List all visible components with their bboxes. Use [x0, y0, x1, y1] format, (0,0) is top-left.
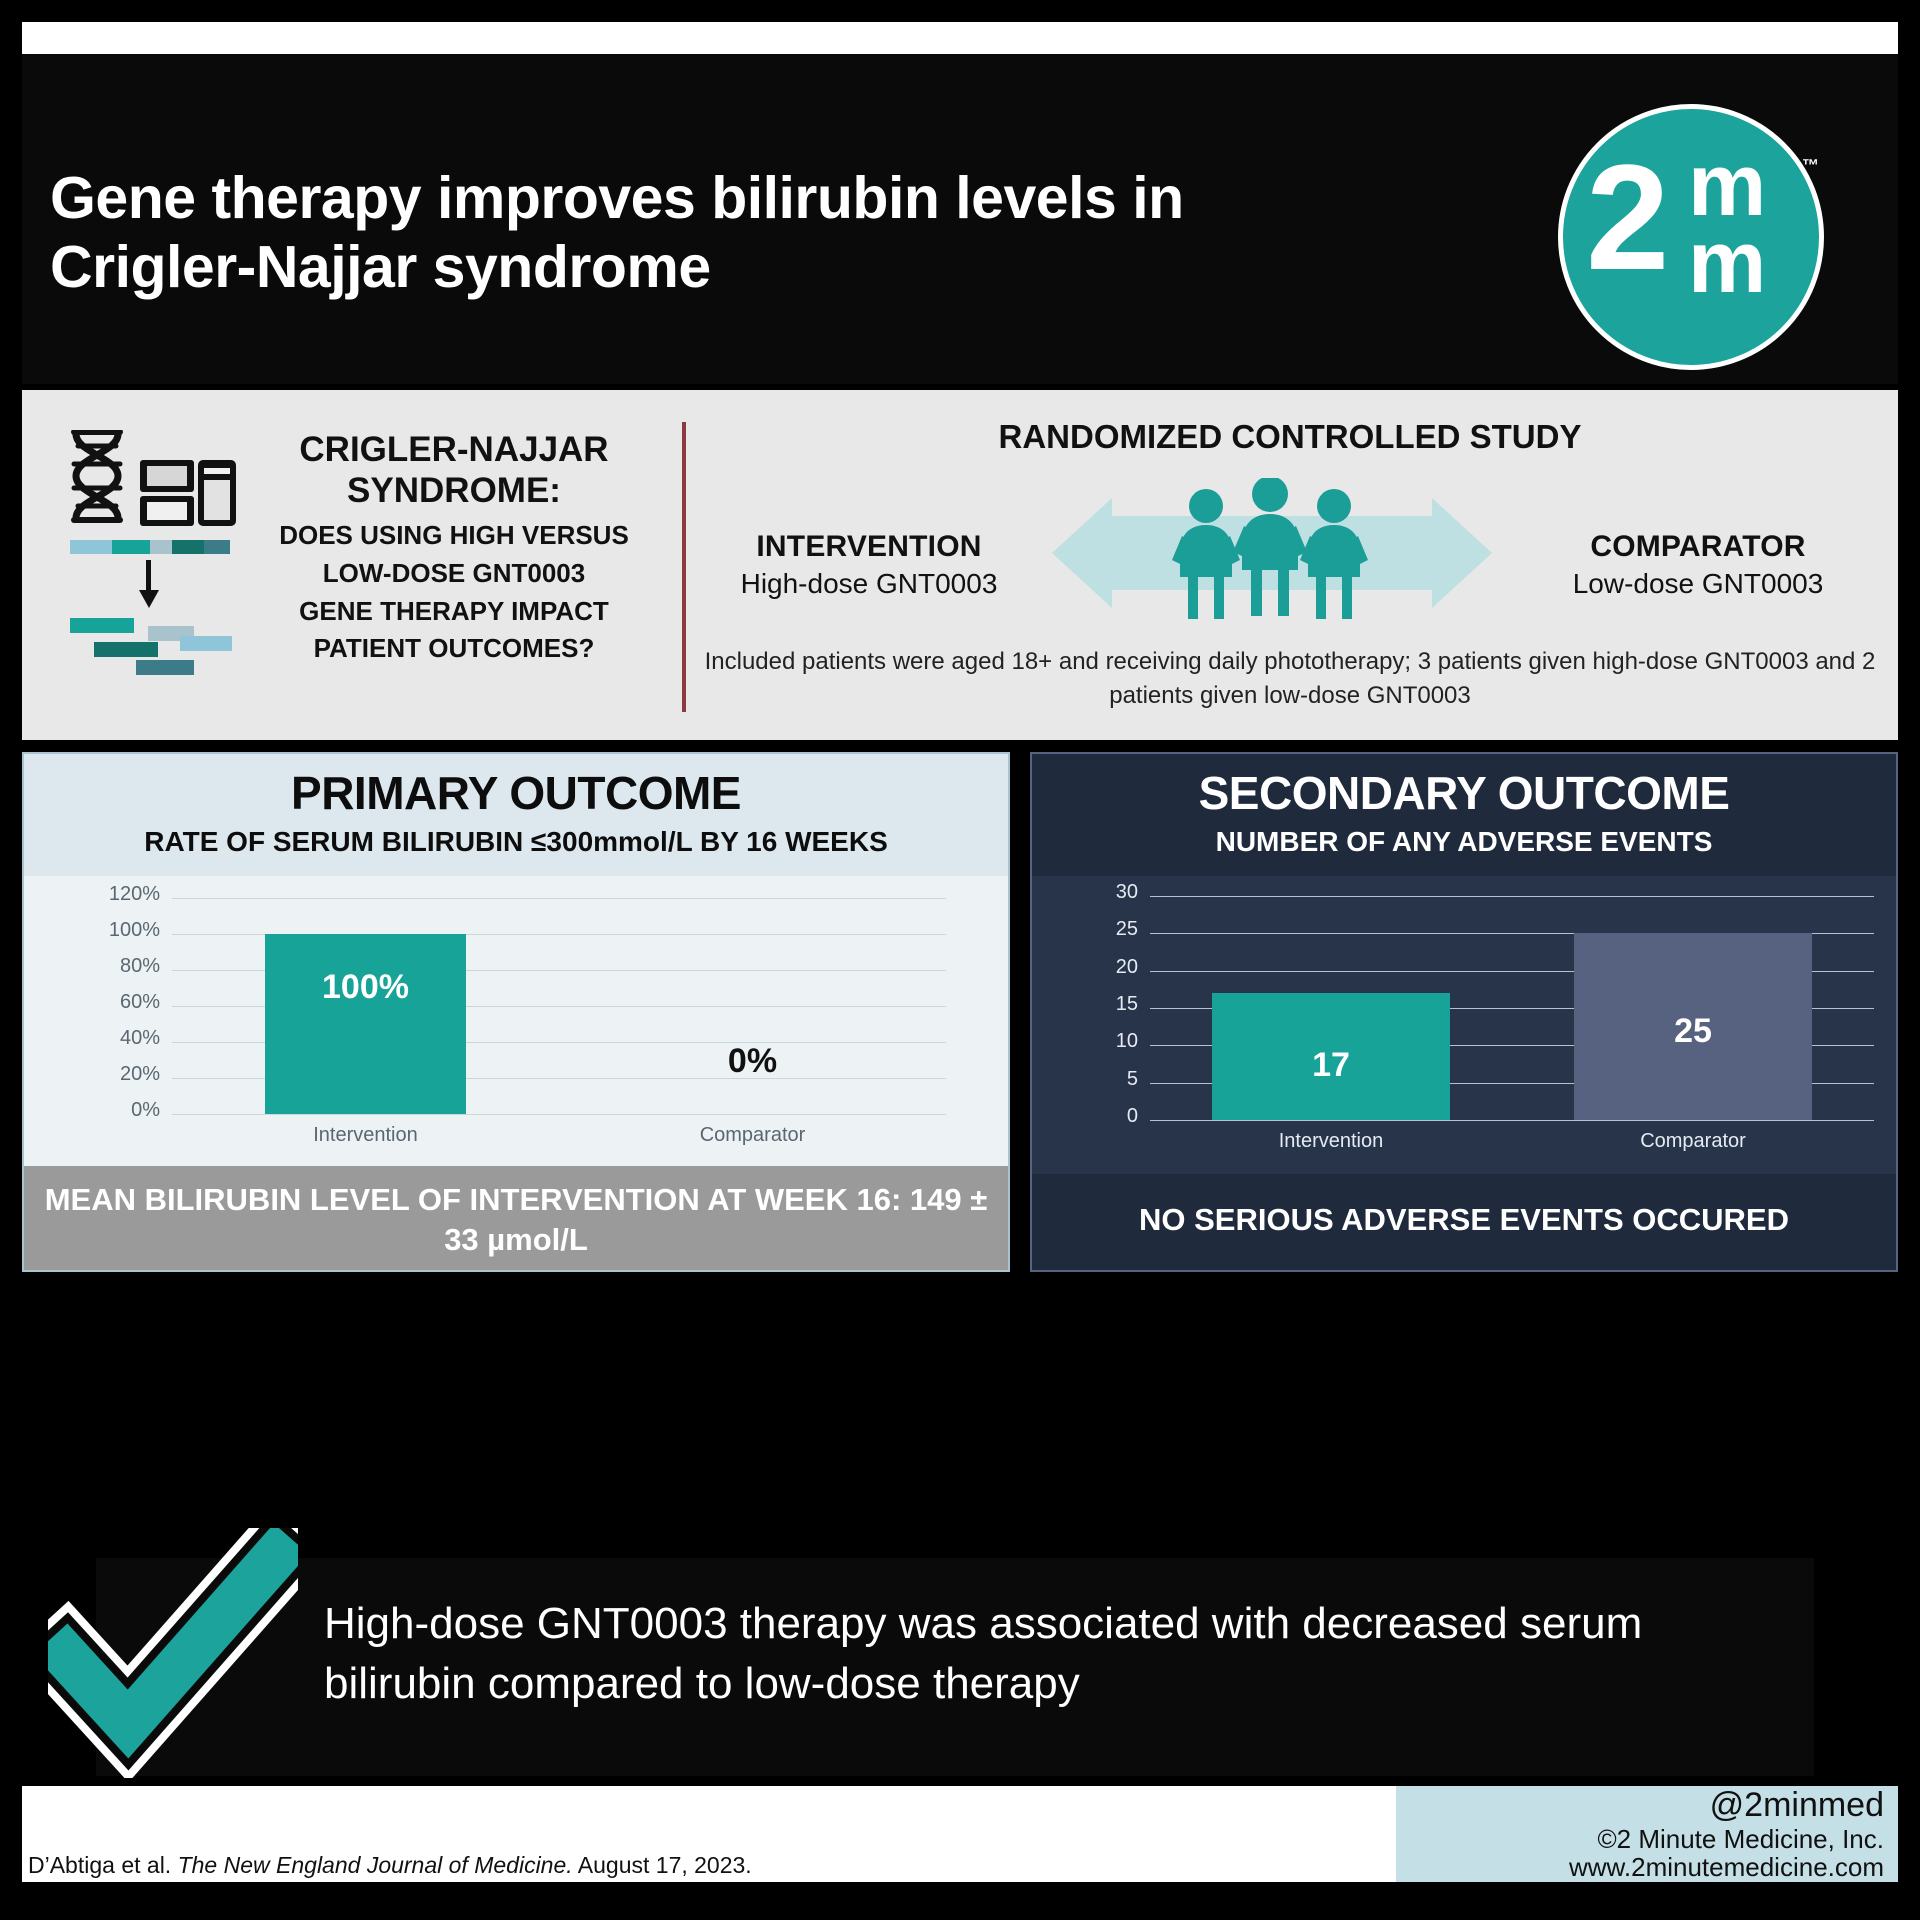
inclusion-criteria-text: Included patients were aged 18+ and rece…	[682, 645, 1898, 713]
sequence-fragment	[136, 660, 194, 675]
secondary-outcome-panel: SECONDARY OUTCOME NUMBER OF ANY ADVERSE …	[1030, 752, 1898, 1272]
y-axis-tick-label: 20	[1054, 956, 1138, 979]
arrow-down-icon	[146, 560, 151, 594]
y-axis-tick-label: 40%	[76, 1027, 160, 1050]
gridline	[172, 898, 946, 899]
bar-value-label: 0%	[652, 1042, 853, 1081]
brand-logo: 2 m m ™	[1558, 104, 1838, 384]
comparator-label: COMPARATOR	[1508, 530, 1888, 564]
brand-footer-box: @2minmed ©2 Minute Medicine, Inc. www.2m…	[1396, 1786, 1898, 1882]
bar-value-label: 100%	[265, 968, 466, 1007]
sequence-fragment	[70, 618, 134, 633]
citation-author: D’Abtiga et al.	[28, 1852, 171, 1878]
y-axis-tick-label: 10	[1054, 1030, 1138, 1053]
study-question-line: GENE THERAPY IMPACT	[244, 593, 664, 631]
study-question: CRIGLER-NAJJAR SYNDROME: DOES USING HIGH…	[244, 430, 664, 668]
study-question-line: LOW-DOSE GNT0003	[244, 555, 664, 593]
sequence-fragment	[94, 642, 158, 657]
y-axis-tick-label: 30	[1054, 881, 1138, 904]
conclusion-text: High-dose GNT0003 therapy was associated…	[324, 1594, 1784, 1714]
study-question-line: DOES USING HIGH VERSUS	[244, 517, 664, 555]
trademark-icon: ™	[1802, 156, 1819, 176]
intervention-label: INTERVENTION	[694, 530, 1044, 564]
logo-m-bottom: m	[1688, 223, 1762, 300]
y-axis-tick-label: 20%	[76, 1063, 160, 1086]
patients-icon	[1170, 478, 1370, 623]
y-axis-tick-label: 0	[1054, 1105, 1138, 1128]
primary-outcome-panel: PRIMARY OUTCOME RATE OF SERUM BILIRUBIN …	[22, 752, 1010, 1272]
study-question-line: PATIENT OUTCOMES?	[244, 630, 664, 668]
conclusion-banner: High-dose GNT0003 therapy was associated…	[96, 1558, 1814, 1776]
comparator-value: Low-dose GNT0003	[1508, 568, 1888, 600]
intervention-value: High-dose GNT0003	[694, 568, 1044, 600]
gridline	[1150, 1120, 1874, 1121]
y-axis-tick-label: 15	[1054, 993, 1138, 1016]
y-axis-tick-label: 5	[1054, 1068, 1138, 1091]
dna-helix-icon	[62, 430, 132, 530]
secondary-outcome-chart: 05101520253017Intervention25Comparator	[1032, 876, 1896, 1174]
y-axis-tick-label: 100%	[76, 919, 160, 942]
y-axis-tick-label: 0%	[76, 1099, 160, 1122]
x-axis-tick-label: Comparator	[559, 1124, 946, 1147]
website-link[interactable]: www.2minutemedicine.com	[1569, 1852, 1884, 1883]
page-title: Gene therapy improves bilirubin levels i…	[50, 164, 1250, 302]
logo-letters: m m	[1688, 146, 1762, 301]
y-axis-tick-label: 25	[1054, 918, 1138, 941]
header-bar: Gene therapy improves bilirubin levels i…	[22, 54, 1898, 384]
social-handle: @2minmed	[1710, 1786, 1884, 1825]
y-axis-tick-label: 60%	[76, 991, 160, 1014]
primary-outcome-chart: 0%20%40%60%80%100%120%100%Intervention0%…	[24, 876, 1008, 1166]
logo-digit: 2	[1586, 142, 1663, 292]
citation-date: August 17, 2023.	[578, 1852, 752, 1878]
citation-journal: The New England Journal of Medicine.	[178, 1852, 573, 1878]
bar-value-label: 25	[1574, 1012, 1813, 1051]
x-axis-tick-label: Comparator	[1512, 1130, 1874, 1153]
intervention-group: INTERVENTION High-dose GNT0003	[694, 530, 1044, 600]
gene-sequence-bar	[70, 540, 230, 554]
arrow-down-head-icon	[139, 590, 159, 608]
x-axis-tick-label: Intervention	[1150, 1130, 1512, 1153]
secondary-outcome-subtitle: NUMBER OF ANY ADVERSE EVENTS	[1032, 826, 1896, 858]
gridline	[172, 1114, 946, 1115]
secondary-outcome-footer: NO SERIOUS ADVERSE EVENTS OCCURED	[1032, 1174, 1896, 1270]
y-axis-tick-label: 80%	[76, 955, 160, 978]
secondary-outcome-title: SECONDARY OUTCOME	[1032, 766, 1896, 820]
citation: D’Abtiga et al. The New England Journal …	[28, 1852, 752, 1879]
copyright-text: ©2 Minute Medicine, Inc.	[1597, 1824, 1884, 1855]
bar-intervention	[265, 934, 466, 1114]
gene-icon-group	[52, 430, 242, 680]
sequence-fragment	[180, 636, 232, 651]
y-axis-tick-label: 120%	[76, 883, 160, 906]
primary-outcome-header: PRIMARY OUTCOME RATE OF SERUM BILIRUBIN …	[24, 754, 1008, 876]
comparator-group: COMPARATOR Low-dose GNT0003	[1508, 530, 1888, 600]
study-question-title: CRIGLER-NAJJAR SYNDROME:	[244, 430, 664, 511]
primary-outcome-footer: MEAN BILIRUBIN LEVEL OF INTERVENTION AT …	[24, 1166, 1008, 1270]
gridline	[1150, 896, 1874, 897]
study-overview-band: CRIGLER-NAJJAR SYNDROME: DOES USING HIGH…	[22, 390, 1898, 740]
primary-outcome-title: PRIMARY OUTCOME	[24, 766, 1008, 820]
x-axis-tick-label: Intervention	[172, 1124, 559, 1147]
computer-sequencer-icon	[138, 458, 238, 530]
top-white-strip	[22, 22, 1898, 54]
primary-outcome-subtitle: RATE OF SERUM BILIRUBIN ≤300mmol/L BY 16…	[24, 826, 1008, 858]
checkmark-icon	[48, 1528, 298, 1778]
bar-value-label: 17	[1212, 1046, 1451, 1085]
secondary-outcome-header: SECONDARY OUTCOME NUMBER OF ANY ADVERSE …	[1032, 754, 1896, 876]
study-design-title: RANDOMIZED CONTROLLED STUDY	[682, 418, 1898, 456]
infographic-poster: Gene therapy improves bilirubin levels i…	[0, 0, 1920, 1920]
